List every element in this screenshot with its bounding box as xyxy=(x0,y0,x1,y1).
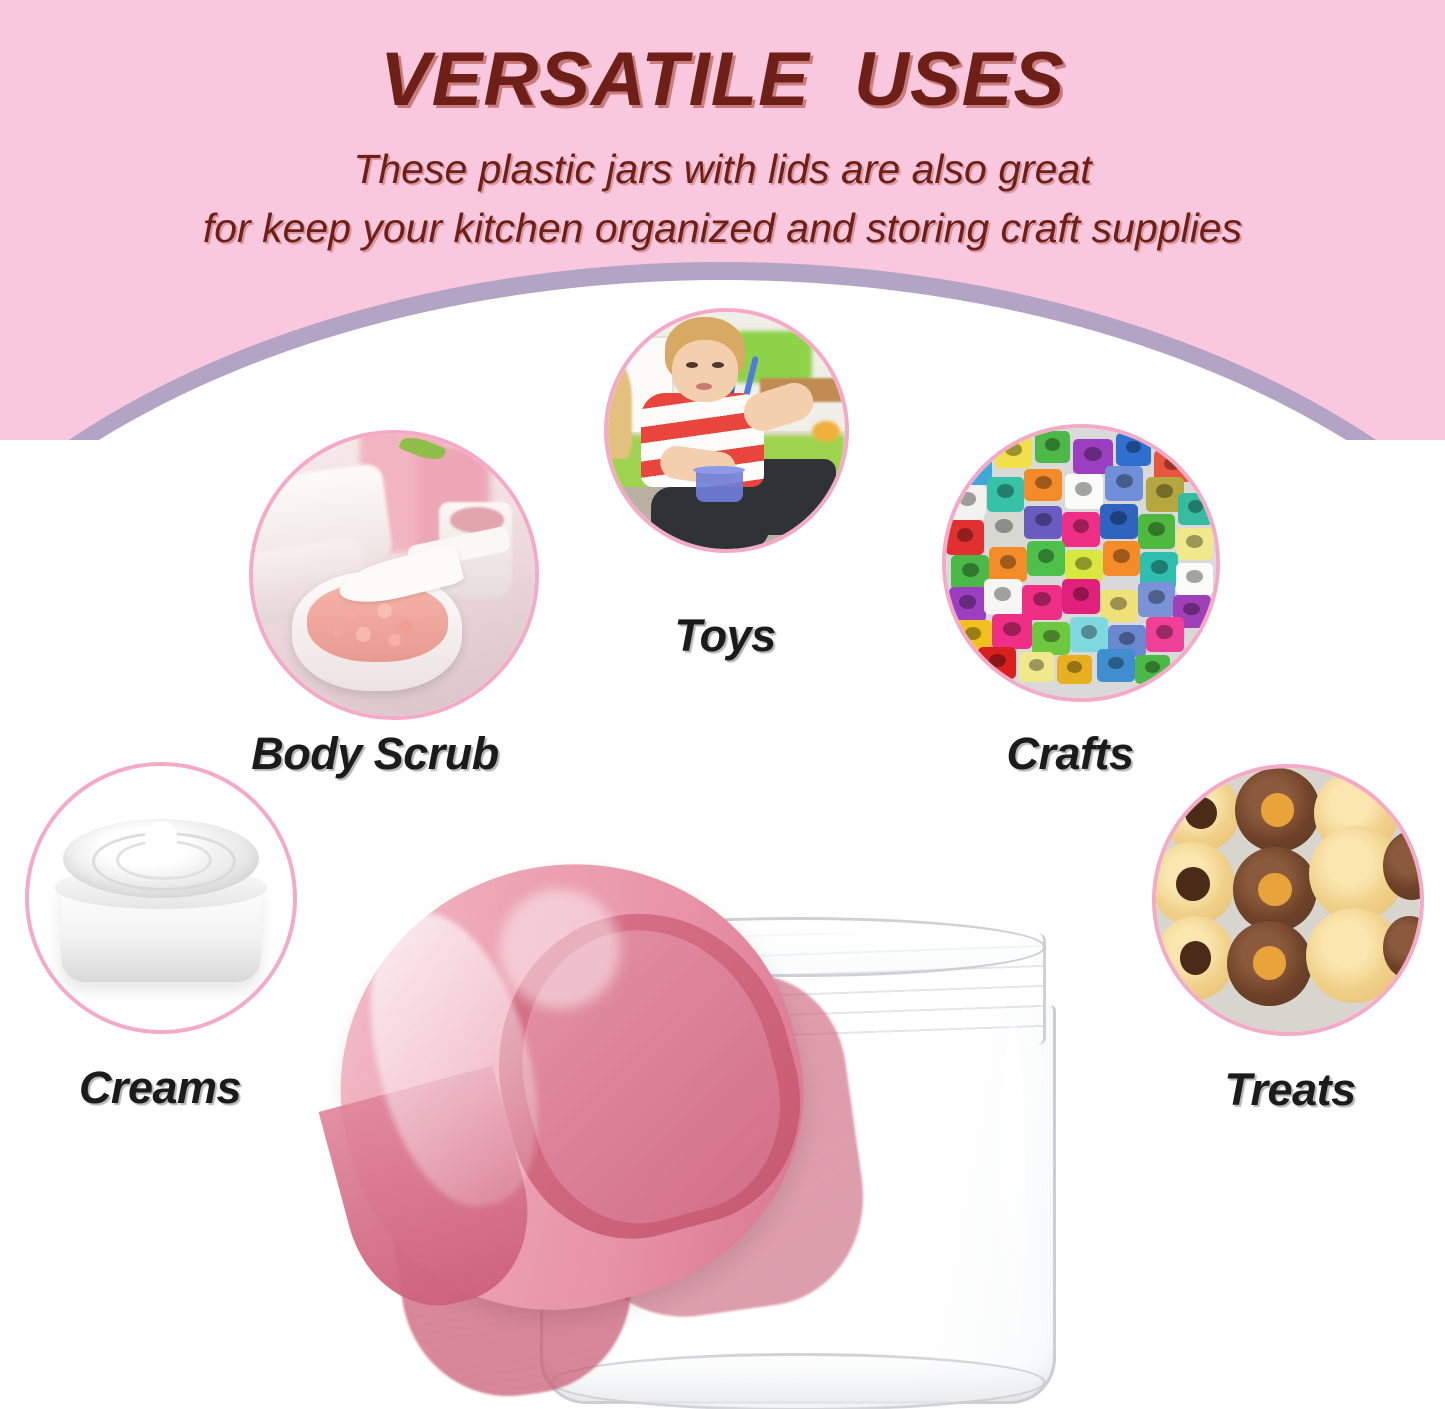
creams-photo xyxy=(25,762,297,1034)
body-scrub-photo xyxy=(249,430,539,720)
jar-base xyxy=(550,1353,1046,1409)
subtitle-line-2: for keep your kitchen organized and stor… xyxy=(0,199,1445,258)
jar-shine-highlight xyxy=(1000,1025,1026,1345)
crafts-label: Crafts xyxy=(950,728,1190,780)
product-infographic: VERSATILE USES These plastic jars with l… xyxy=(0,0,1445,1409)
page-title: VERSATILE USES xyxy=(0,36,1445,123)
treats-photo xyxy=(1152,764,1424,1036)
crafts-photo xyxy=(942,424,1220,702)
subtitle-line-1: These plastic jars with lids are also gr… xyxy=(0,140,1445,199)
toys-photo xyxy=(604,308,849,553)
creams-label: Creams xyxy=(35,1062,285,1114)
treats-label: Treats xyxy=(1165,1064,1415,1116)
toys-label: Toys xyxy=(605,610,845,662)
page-subtitle: These plastic jars with lids are also gr… xyxy=(0,140,1445,258)
product-jar xyxy=(300,855,1130,1409)
